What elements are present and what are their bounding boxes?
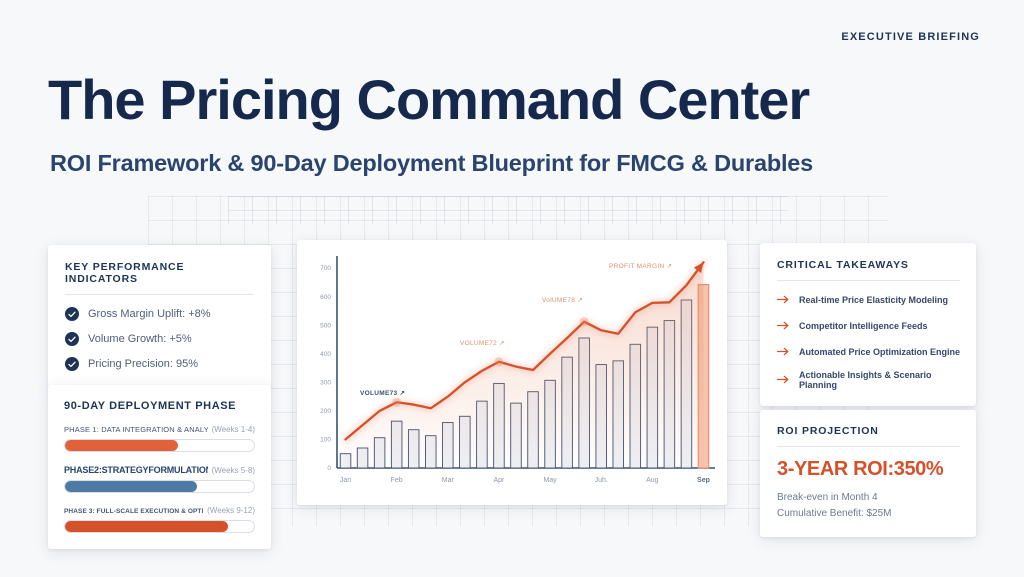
kpi-card-title: KEY PERFORMANCE INDICATORS xyxy=(65,261,254,285)
arrow-right-icon xyxy=(777,372,790,388)
kpi-item: Pricing Precision: 95% xyxy=(65,357,254,371)
takeaways-card-title: CRITICAL TAKEAWAYS xyxy=(777,259,960,271)
roi-headline: 3-YEAR ROI:350% xyxy=(777,458,960,481)
check-circle-icon xyxy=(65,307,79,321)
kpi-item: Volume Growth: +5% xyxy=(65,332,254,346)
svg-text:VOLUME72 ↗: VOLUME72 ↗ xyxy=(460,340,505,347)
svg-text:300: 300 xyxy=(320,379,331,386)
svg-text:VOLUME73 ↗: VOLUME73 ↗ xyxy=(360,390,406,397)
arrow-right-icon xyxy=(777,318,790,334)
performance-chart-card: 0100200300400500600700JanFebMarAprMayJuh… xyxy=(297,240,727,505)
phase-progress-fill xyxy=(65,481,197,492)
svg-text:PROFIT MARGIN ↗: PROFIT MARGIN ↗ xyxy=(609,263,672,270)
takeaway-item: Competitor Intelligence Feeds xyxy=(777,318,960,334)
phase-progress-track xyxy=(64,480,255,493)
svg-text:Aug: Aug xyxy=(646,477,659,484)
svg-text:Apr: Apr xyxy=(493,477,505,484)
takeaway-item: Actionable Insights & Scenario Planning xyxy=(777,370,960,390)
performance-chart: 0100200300400500600700JanFebMarAprMayJuh… xyxy=(297,240,727,505)
phase-label: PHASE 1: DATA INTEGRATION & ANALYSIS xyxy=(64,425,208,434)
takeaway-label: Real-time Price Elasticity Modeling xyxy=(799,295,948,305)
kpi-item: Gross Margin Uplift: +8% xyxy=(65,307,254,321)
background-grid-top xyxy=(228,196,788,224)
kpi-item-label: Pricing Precision: 95% xyxy=(88,358,198,370)
phase-progress-track xyxy=(64,439,255,452)
svg-text:600: 600 xyxy=(320,294,331,301)
svg-text:VolUME78 ↗: VolUME78 ↗ xyxy=(542,297,583,304)
phase-row-1: PHASE 1: DATA INTEGRATION & ANALYSIS (We… xyxy=(64,425,255,452)
divider xyxy=(777,446,960,447)
svg-text:Sep: Sep xyxy=(697,477,710,484)
page-title: The Pricing Command Center xyxy=(48,70,809,129)
kpi-item-label: Volume Growth: +5% xyxy=(88,333,192,345)
takeaway-item: Real-time Price Elasticity Modeling xyxy=(777,292,960,308)
phase-weeks: (Weeks 5-8) xyxy=(208,466,255,475)
arrow-right-icon xyxy=(777,344,790,360)
deployment-card-title: 90-DAY DEPLOYMENT PHASE xyxy=(64,400,255,412)
svg-text:Feb: Feb xyxy=(391,477,403,484)
roi-breakeven: Break-even in Month 4 xyxy=(777,490,960,506)
svg-text:May: May xyxy=(543,477,557,484)
svg-text:200: 200 xyxy=(320,408,331,415)
roi-card-title: ROI PROJECTION xyxy=(777,425,960,437)
deployment-phase-card: 90-DAY DEPLOYMENT PHASE PHASE 1: DATA IN… xyxy=(48,385,271,549)
phase-weeks: (Weeks 1-4) xyxy=(208,425,255,434)
divider xyxy=(777,280,960,281)
svg-text:0: 0 xyxy=(327,465,331,472)
kpi-item-label: Gross Margin Uplift: +8% xyxy=(88,308,211,320)
phase-progress-fill xyxy=(65,521,228,532)
takeaway-label: Actionable Insights & Scenario Planning xyxy=(799,370,960,390)
page-subtitle: ROI Framework & 90-Day Deployment Bluepr… xyxy=(50,150,813,177)
kpi-card: KEY PERFORMANCE INDICATORS Gross Margin … xyxy=(48,245,271,388)
arrow-right-icon xyxy=(777,292,790,308)
phase-row-2: PHASE2:STRATEGYFORMULATION& TESTINGI (We… xyxy=(64,465,255,493)
takeaway-label: Automated Price Optimization Engine xyxy=(799,347,960,357)
svg-text:Jan: Jan xyxy=(340,477,351,484)
svg-text:700: 700 xyxy=(320,265,331,272)
check-circle-icon xyxy=(65,332,79,346)
phase-progress-track xyxy=(64,520,255,533)
takeaway-item: Automated Price Optimization Engine xyxy=(777,344,960,360)
eyebrow-label: EXECUTIVE BRIEFING xyxy=(841,31,980,43)
takeaway-label: Competitor Intelligence Feeds xyxy=(799,321,928,331)
svg-text:Mar: Mar xyxy=(442,477,455,484)
check-circle-icon xyxy=(65,357,79,371)
roi-projection-card: ROI PROJECTION 3-YEAR ROI:350% Break-eve… xyxy=(760,410,976,537)
roi-cumulative-benefit: Cumulative Benefit: $25M xyxy=(777,506,960,522)
critical-takeaways-card: CRITICAL TAKEAWAYS Real-time Price Elast… xyxy=(760,243,976,406)
svg-text:100: 100 xyxy=(320,437,331,444)
phase-progress-fill xyxy=(65,440,178,451)
phase-row-3: PHASE 3: FULL-SCALE EXECUTION & OPTIMIZA… xyxy=(64,506,255,533)
svg-text:500: 500 xyxy=(320,322,331,329)
divider xyxy=(65,294,254,295)
svg-text:Juh.: Juh. xyxy=(595,477,608,484)
svg-text:400: 400 xyxy=(320,351,331,358)
phase-weeks: (Weeks 9-12) xyxy=(203,506,255,515)
phase-label: PHASE2:STRATEGYFORMULATION& TESTINGI xyxy=(64,465,208,475)
phase-label: PHASE 3: FULL-SCALE EXECUTION & OPTIMIZA… xyxy=(64,508,203,515)
